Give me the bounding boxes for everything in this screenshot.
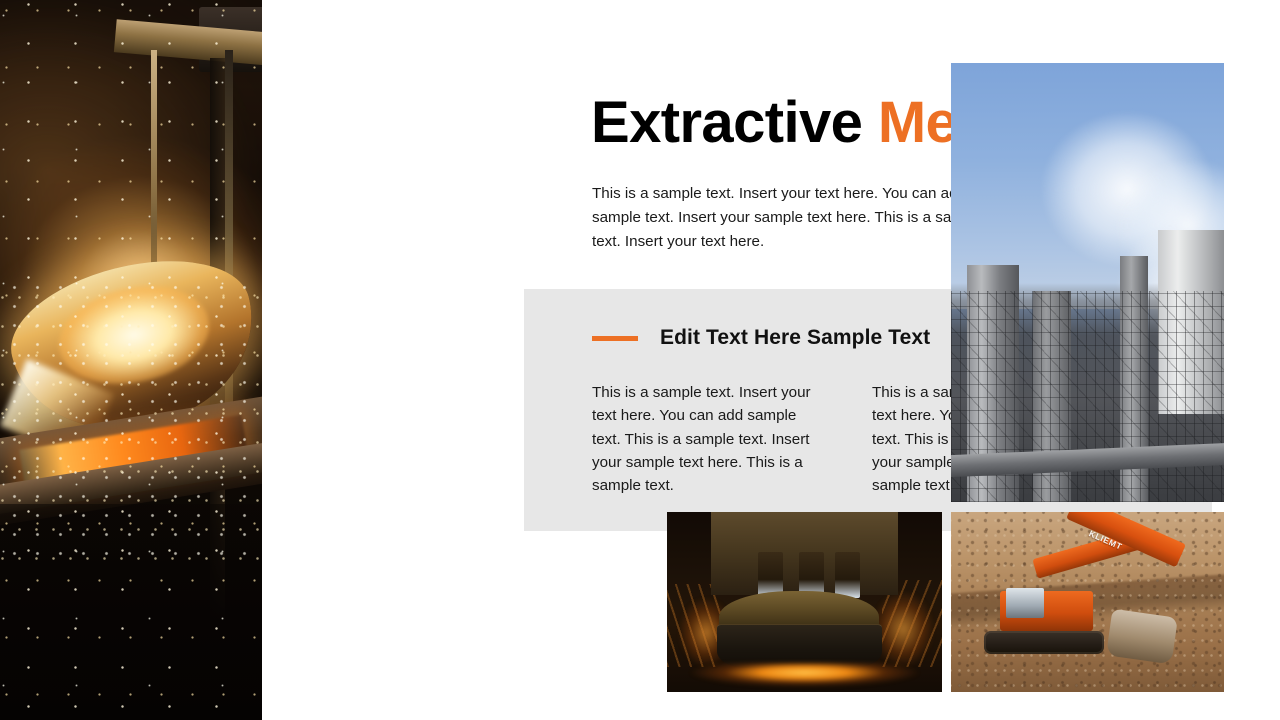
furnace-floor-glow	[689, 663, 920, 686]
title-word-primary: Extractive	[591, 90, 862, 155]
image-electric-arc-furnace	[667, 512, 942, 692]
excavator-cab	[1006, 588, 1044, 619]
hero-image-molten-metal	[0, 0, 262, 720]
excavator-track	[984, 631, 1104, 654]
furnace-electrode-3	[835, 552, 860, 599]
furnace-rigging-left	[667, 584, 722, 667]
furnace-vessel-shell	[717, 624, 882, 668]
section-heading-row: Edit Text Here Sample Text	[592, 326, 930, 350]
slide-canvas: Extractive Metallurgy This is a sample t…	[0, 0, 1280, 720]
image-mining-excavator: KLIEMT	[951, 512, 1224, 692]
dash-accent-icon	[592, 336, 638, 341]
hero-sparks-dense	[0, 274, 262, 562]
section-heading: Edit Text Here Sample Text	[660, 326, 930, 350]
image-industrial-plant	[951, 63, 1224, 502]
excavator-bucket	[1106, 608, 1177, 663]
text-column-1: This is a sample text. Insert your text …	[592, 381, 829, 497]
